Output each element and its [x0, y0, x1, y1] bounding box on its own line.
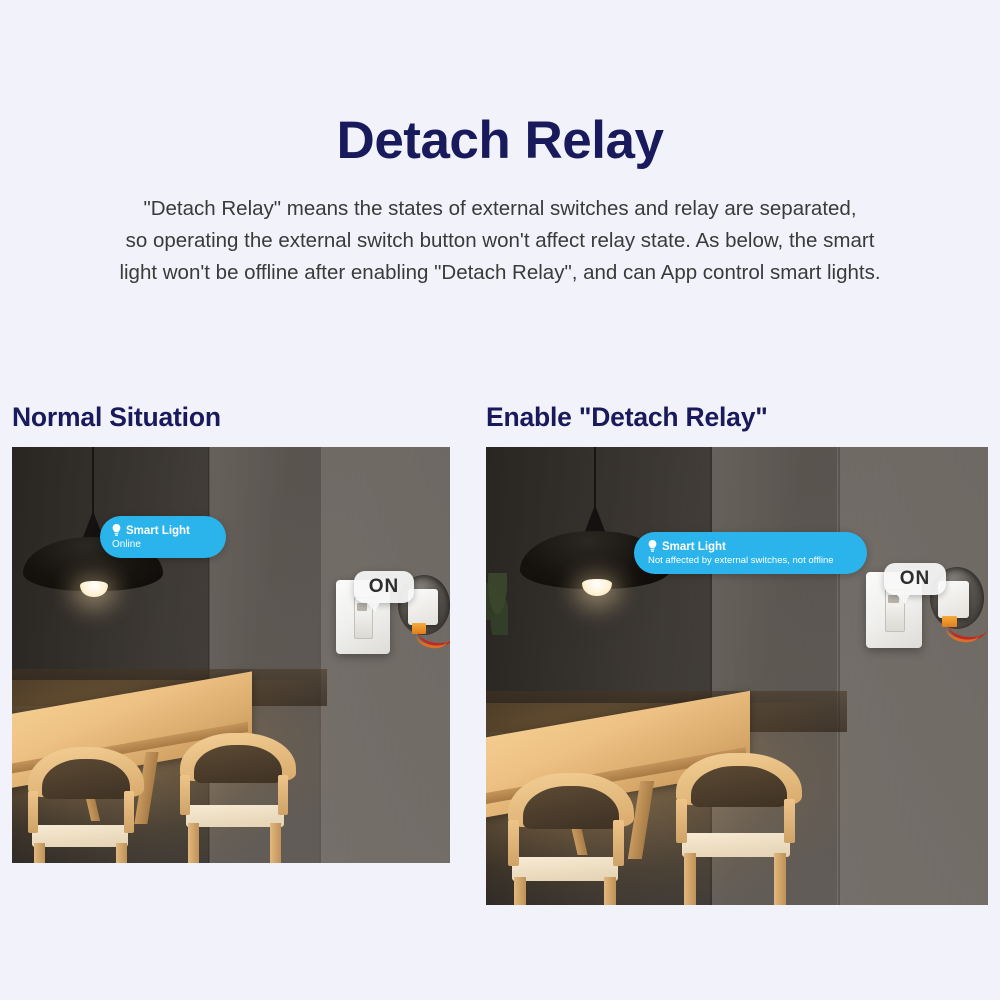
- lightbulb-icon: [648, 540, 657, 553]
- chair-post: [613, 820, 624, 866]
- chair-leg: [514, 877, 526, 905]
- switch-state-bubble: ON: [354, 571, 414, 603]
- chair-leg: [188, 823, 199, 863]
- description-line: so operating the external switch button …: [22, 225, 978, 257]
- wall-right-section: [319, 447, 450, 863]
- section-heading-detach-relay: Enable "Detach Relay": [486, 402, 768, 433]
- badge-title-row: Smart Light: [648, 540, 853, 553]
- lightbulb-icon: [112, 524, 121, 537]
- switch-state-bubble: ON: [884, 563, 946, 595]
- chair-leg: [604, 877, 616, 905]
- chair-post: [278, 775, 288, 815]
- room-scene: ON: [12, 447, 450, 863]
- description-line: light won't be offline after enabling "D…: [22, 257, 978, 289]
- plant-decor: [486, 573, 508, 635]
- chair-seat: [512, 857, 618, 881]
- chair-leg: [34, 843, 45, 863]
- chair-seat: [32, 825, 128, 847]
- badge-title-text: Smart Light: [662, 541, 726, 553]
- chair-post: [784, 799, 795, 843]
- smart-light-status-badge: Smart Light Online: [100, 516, 226, 558]
- chair-post: [180, 775, 190, 815]
- chair-post: [676, 799, 687, 843]
- photo-detach-relay-enabled: ON: [486, 447, 988, 905]
- wall-right-section: [837, 447, 988, 905]
- chair-leg: [774, 853, 786, 905]
- chair-post: [28, 791, 38, 833]
- page-title: Detach Relay: [0, 113, 1000, 169]
- badge-subtitle-text: Online: [112, 539, 214, 550]
- chair-post: [124, 791, 134, 833]
- chair-leg: [684, 853, 696, 905]
- description-line: "Detach Relay" means the states of exter…: [22, 193, 978, 225]
- photo-normal-situation: ON: [12, 447, 450, 863]
- lamp-cord: [92, 447, 94, 515]
- badge-title-row: Smart Light: [112, 524, 214, 537]
- chair-leg: [270, 823, 281, 863]
- chair-leg: [116, 843, 127, 863]
- smart-light-status-badge: Smart Light Not affected by external swi…: [634, 532, 867, 574]
- page-description: "Detach Relay" means the states of exter…: [22, 193, 978, 289]
- lamp-cord: [594, 447, 596, 509]
- badge-subtitle-text: Not affected by external switches, not o…: [648, 555, 853, 566]
- badge-title-text: Smart Light: [126, 525, 190, 537]
- chair-post: [508, 820, 519, 866]
- room-scene: ON: [486, 447, 988, 905]
- section-heading-normal-situation: Normal Situation: [12, 402, 221, 433]
